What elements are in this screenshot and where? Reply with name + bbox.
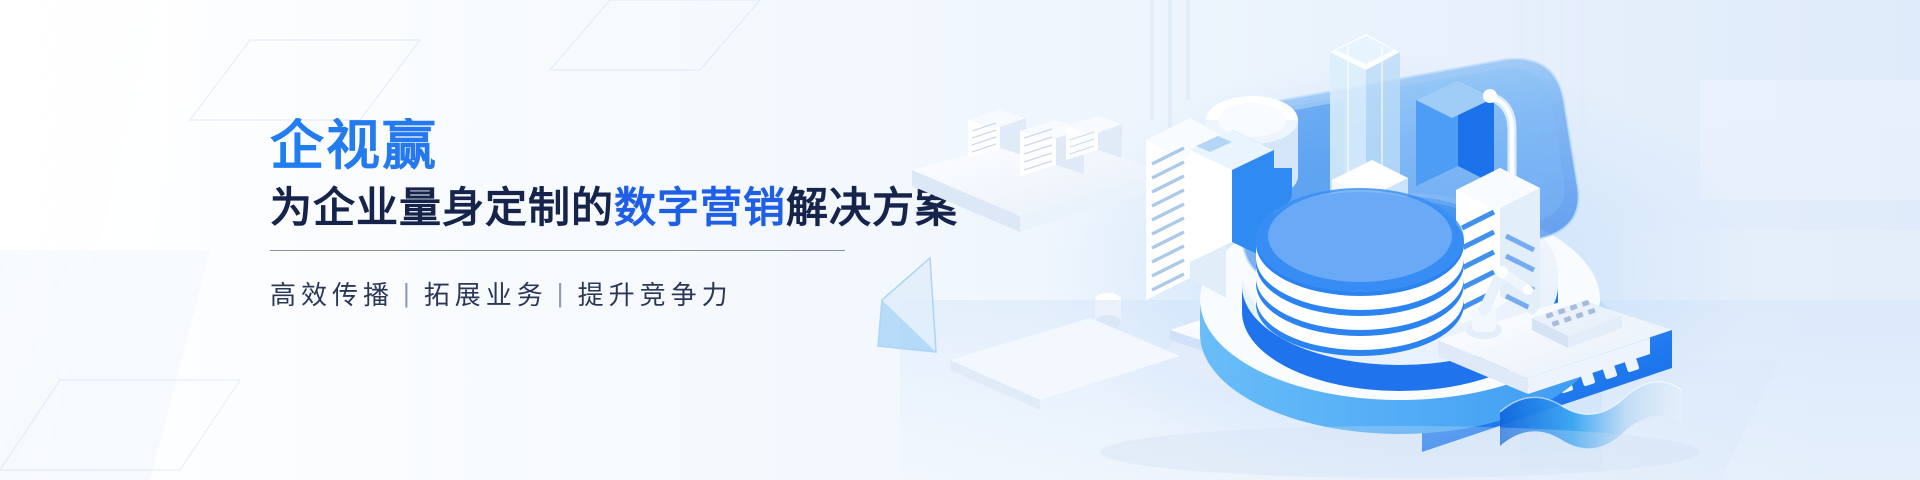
feature-item-1: 高效传播 <box>270 275 394 312</box>
headline-divider <box>270 250 845 251</box>
isometric-illustration <box>860 0 1920 480</box>
feature-item-3: 提升竞争力 <box>578 275 733 312</box>
marketing-banner: 企视赢 为企业量身定制的数字营销解决方案 高效传播 | 拓展业务 | 提升竞争力 <box>0 0 1920 480</box>
brand-name: 企视赢 <box>270 118 910 175</box>
headline-prefix: 为企业量身定制的 <box>270 184 614 231</box>
headline-highlight: 数字营销 <box>614 184 786 231</box>
feature-item-2: 拓展业务 <box>424 275 548 312</box>
feature-list: 高效传播 | 拓展业务 | 提升竞争力 <box>270 275 910 312</box>
feature-separator-2: | <box>557 278 564 309</box>
headline: 为企业量身定制的数字营销解决方案 <box>270 183 910 233</box>
banner-text-block: 企视赢 为企业量身定制的数字营销解决方案 高效传播 | 拓展业务 | 提升竞争力 <box>270 118 910 312</box>
stacked-disc-building <box>1256 188 1464 356</box>
feature-separator-1: | <box>403 278 410 309</box>
glass-triangle <box>878 258 936 352</box>
